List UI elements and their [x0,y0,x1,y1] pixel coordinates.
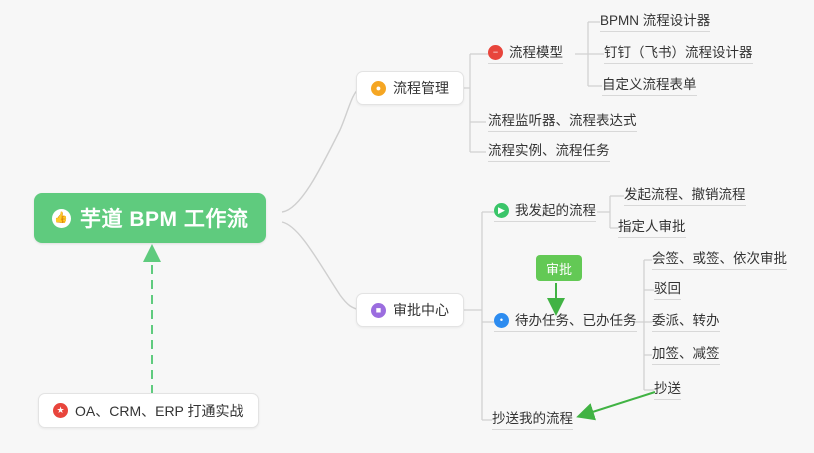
minus-circle-icon: − [488,45,503,61]
branch-label: 审批中心 [393,300,449,320]
message-icon: ■ [371,303,386,318]
node-label: 指定人审批 [618,215,686,235]
node-instance-task[interactable]: 流程实例、流程任务 [488,138,610,162]
pin-icon: ● [371,81,386,96]
node-process-model[interactable]: − 流程模型 [488,40,563,64]
node-label: 抄送 [654,377,681,397]
node-cc-to-me[interactable]: 抄送我的流程 [492,406,573,430]
node-label: BPMN 流程设计器 [600,9,710,29]
node-label: 待办任务、已办任务 [515,309,637,329]
node-label: 抄送我的流程 [492,407,573,427]
node-label: 发起流程、撤销流程 [624,183,746,203]
node-dingtalk-designer[interactable]: 钉钉（飞书）流程设计器 [604,40,753,64]
node-custom-form[interactable]: 自定义流程表单 [602,72,697,96]
star-icon: ★ [53,403,68,418]
info-circle-icon: • [494,313,509,329]
node-label: 委派、转办 [652,309,720,329]
root-node[interactable]: 👍 芋道 BPM 工作流 [34,193,266,243]
node-label: 会签、或签、依次审批 [652,247,787,267]
node-start-cancel-process[interactable]: 发起流程、撤销流程 [624,182,746,206]
node-listener-expression[interactable]: 流程监听器、流程表达式 [488,108,637,132]
callout-label: 审批 [546,259,572,278]
node-label: 加签、减签 [652,342,720,362]
node-reject[interactable]: 驳回 [654,276,681,300]
play-circle-icon: ▶ [494,203,509,219]
node-countersign[interactable]: 会签、或签、依次审批 [652,246,787,270]
node-label: 流程监听器、流程表达式 [488,109,637,129]
node-todo-done-task[interactable]: • 待办任务、已办任务 [494,308,637,332]
node-bpmn-designer[interactable]: BPMN 流程设计器 [600,8,710,32]
node-label: 流程模型 [509,41,563,61]
branch-node-process-management[interactable]: ● 流程管理 [356,71,464,105]
footnote-node[interactable]: ★ OA、CRM、ERP 打通实战 [38,393,259,428]
mindmap-canvas: 👍 芋道 BPM 工作流 ★ OA、CRM、ERP 打通实战 ● 流程管理 − … [0,0,814,453]
node-my-started-process[interactable]: ▶ 我发起的流程 [494,198,596,222]
node-add-remove-sign[interactable]: 加签、减签 [652,341,720,365]
root-label: 芋道 BPM 工作流 [80,203,248,233]
branch-node-approval-center[interactable]: ■ 审批中心 [356,293,464,327]
node-label: 流程实例、流程任务 [488,139,610,159]
thumbs-up-icon: 👍 [52,209,71,228]
node-label: 自定义流程表单 [602,73,697,93]
node-label: 钉钉（飞书）流程设计器 [604,41,753,61]
callout-approval[interactable]: 审批 [536,255,582,281]
node-label: 我发起的流程 [515,199,596,219]
node-assign-approver[interactable]: 指定人审批 [618,214,686,238]
node-delegate-transfer[interactable]: 委派、转办 [652,308,720,332]
footnote-label: OA、CRM、ERP 打通实战 [75,401,244,421]
node-cc[interactable]: 抄送 [654,376,681,400]
node-label: 驳回 [654,277,681,297]
branch-label: 流程管理 [393,78,449,98]
